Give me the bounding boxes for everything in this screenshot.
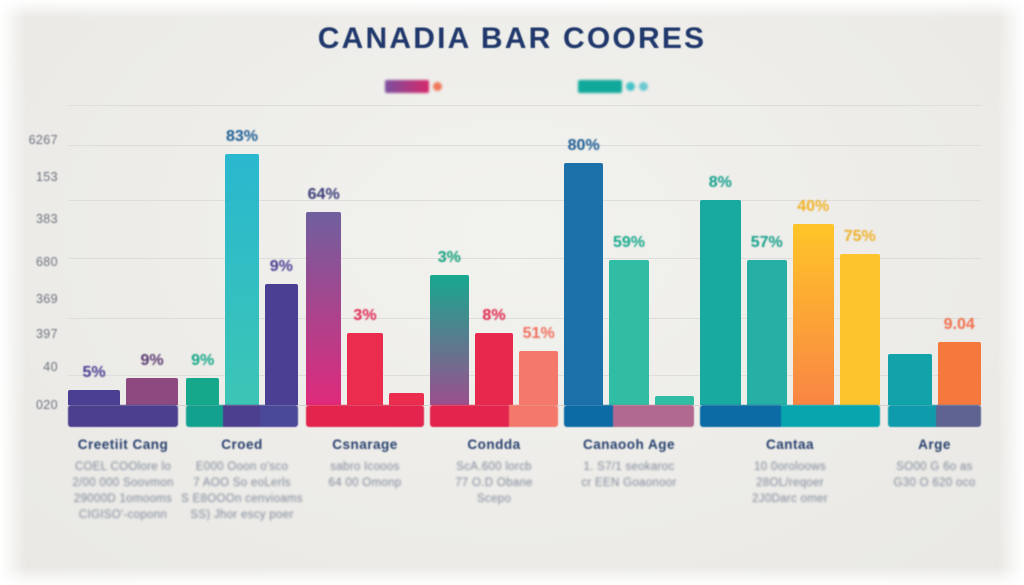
- y-axis-tick-label: 020: [0, 398, 58, 412]
- bar-value-label: 57%: [735, 234, 800, 252]
- bar[interactable]: [938, 342, 982, 405]
- band-segment: [509, 405, 558, 427]
- bar[interactable]: [747, 260, 788, 405]
- y-axis-tick-label: 6267: [0, 133, 58, 147]
- band-segment: [68, 405, 178, 427]
- band-segment: [260, 405, 298, 427]
- band-segment: [700, 405, 781, 427]
- legend-teal[interactable]: [578, 80, 648, 93]
- category-color-band: [68, 405, 981, 427]
- gridline: [68, 105, 981, 106]
- x-axis-category-subline: G30 O 620 oco: [870, 475, 999, 491]
- bar-value-label: 8%: [463, 307, 526, 325]
- y-axis-tick-label: 153: [0, 170, 58, 184]
- band-segment: [186, 405, 223, 427]
- x-axis-category-subline: SS) Jhor escy poer: [168, 507, 316, 523]
- band-segment: [888, 405, 936, 427]
- band-segment: [223, 405, 260, 427]
- band-group: [186, 405, 298, 427]
- band-group: [306, 405, 424, 427]
- gridline: [68, 145, 981, 146]
- chart-card: CANADIA BAR COORES 626715338368036939740…: [0, 0, 1024, 585]
- band-group: [68, 405, 178, 427]
- bar[interactable]: [265, 284, 298, 405]
- x-axis-category-subline: SO00 G 6o as: [870, 459, 999, 475]
- x-axis-category: ArgeSO00 G 6o asG30 O 620 oco: [870, 437, 999, 491]
- x-axis-category-subline: 28OL/reqoer: [682, 475, 898, 491]
- bar-value-label: 51%: [507, 325, 570, 343]
- legend-swatch-icon: [385, 80, 429, 93]
- bar[interactable]: [888, 354, 932, 405]
- band-segment: [564, 405, 613, 427]
- bar-value-label: 3%: [418, 249, 481, 267]
- legend-dot-icon: [639, 82, 648, 91]
- x-axis-category-title: Arge: [870, 437, 999, 452]
- y-axis-tick-label: 369: [0, 292, 58, 306]
- bar-value-label: 9%: [174, 352, 231, 370]
- y-axis-tick-label: 680: [0, 255, 58, 269]
- legend-dot-icon: [626, 82, 635, 91]
- bar-value-label: 8%: [688, 174, 753, 192]
- bar-value-label: 9%: [253, 258, 310, 276]
- bar[interactable]: [793, 224, 834, 405]
- page-title: CANADIA BAR COORES: [0, 22, 1024, 56]
- bar-value-label: 80%: [552, 137, 615, 155]
- bar-value-label: 9.04: [926, 316, 994, 334]
- y-axis-tick-label: 40: [0, 360, 58, 374]
- bar[interactable]: [186, 378, 219, 405]
- bar-value-label: 59%: [597, 234, 660, 252]
- bar-value-label: 3%: [335, 307, 394, 325]
- band-segment: [781, 405, 880, 427]
- bar-value-label: 75%: [828, 228, 893, 246]
- x-axis-category-subline: 2J0Darc omer: [682, 491, 898, 507]
- y-axis-tick-label: 383: [0, 212, 58, 226]
- bar[interactable]: [700, 200, 741, 405]
- bar[interactable]: [655, 396, 694, 405]
- bar-value-label: 40%: [781, 198, 846, 216]
- bar[interactable]: [430, 275, 469, 405]
- band-group: [700, 405, 880, 427]
- x-axis-category-subline: S E8OOOn cenvioams: [168, 491, 316, 507]
- x-axis-category-subline: 10 0oroloows: [682, 459, 898, 475]
- bar-value-label: 83%: [213, 128, 270, 146]
- y-axis-tick-label: 397: [0, 327, 58, 341]
- legend-dot-icon: [433, 82, 442, 91]
- band-segment: [613, 405, 694, 427]
- bar[interactable]: [347, 333, 382, 405]
- legend-gradient-purple-pink[interactable]: [385, 80, 442, 93]
- band-segment: [430, 405, 509, 427]
- x-axis-category-title: Cantaa: [682, 437, 898, 452]
- bar-value-label: 64%: [294, 186, 353, 204]
- legend-swatch-icon: [578, 80, 622, 93]
- band-group: [430, 405, 558, 427]
- band-group: [564, 405, 694, 427]
- bar[interactable]: [475, 333, 514, 405]
- bar[interactable]: [564, 163, 603, 405]
- bar[interactable]: [519, 351, 558, 405]
- chart-legend: [0, 80, 1024, 102]
- bar[interactable]: [840, 254, 881, 405]
- band-segment: [936, 405, 981, 427]
- x-axis-category: Cantaa10 0oroloows28OL/reqoer2J0Darc ome…: [682, 437, 898, 507]
- bar[interactable]: [609, 260, 648, 405]
- bar[interactable]: [389, 393, 424, 405]
- x-axis-category-subline: Scepo: [412, 491, 576, 507]
- bar[interactable]: [126, 378, 178, 405]
- bar[interactable]: [68, 390, 120, 405]
- band-segment: [306, 405, 424, 427]
- band-group: [888, 405, 981, 427]
